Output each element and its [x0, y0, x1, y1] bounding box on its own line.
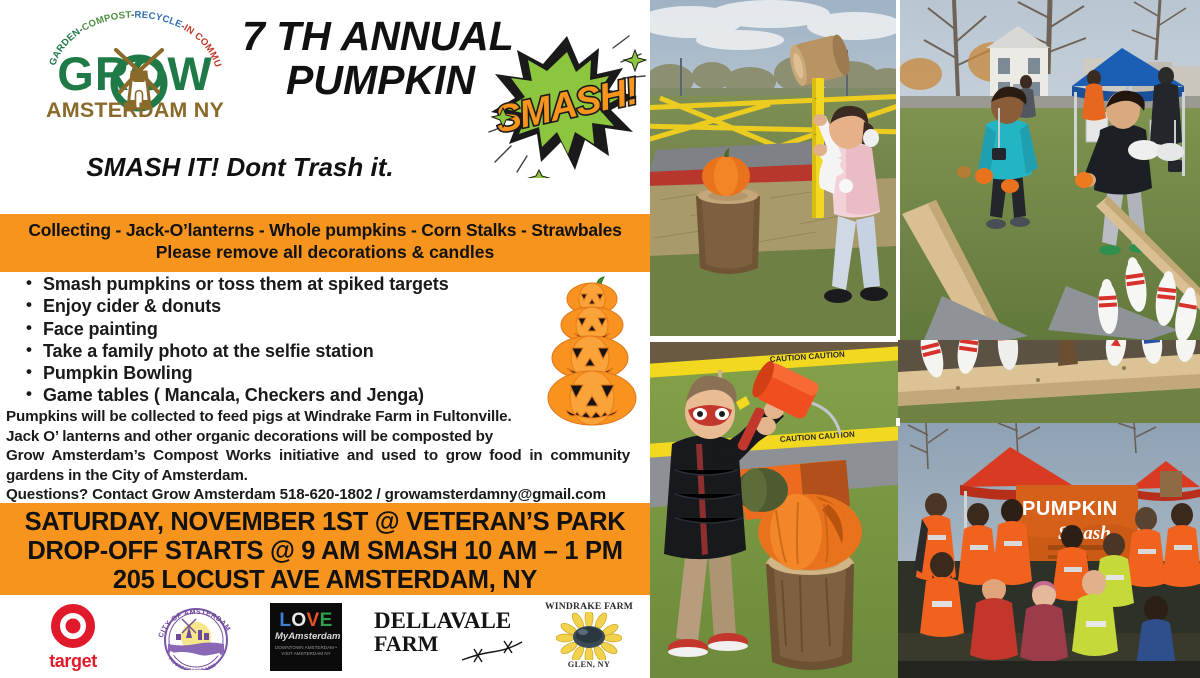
collecting-banner: Collecting - Jack-O’lanterns - Whole pum… — [0, 214, 650, 272]
collecting-line-1: Collecting - Jack-O’lanterns - Whole pum… — [4, 220, 646, 242]
sunflower-icon — [556, 612, 622, 660]
svg-text:⌁: ⌁ — [814, 96, 817, 102]
logo-city-label: AMSTERDAM NY — [40, 100, 230, 122]
collage-gutter-vertical — [896, 0, 900, 340]
grow-amsterdam-logo: GARDEN-COMPOST-RECYCLE-IN COMMUNITY GROW — [40, 8, 230, 148]
windrake-name: WINDRAKE FARM — [530, 601, 648, 612]
sponsor-logo-strip: target — [0, 596, 650, 678]
photo-kids-pumpkin-bowling — [898, 0, 1200, 340]
sponsor-logo-windrake-farm: WINDRAKE FARM — [524, 600, 650, 674]
smash-burst-icon: SMASH! — [487, 30, 647, 178]
event-line-3: 205 LOCUST AVE AMSTERDAM, NY — [0, 566, 650, 595]
list-item: Smash pumpkins or toss them at spiked ta… — [26, 273, 536, 295]
photo-girl-smashing-pumpkin-with-mallet: ⌁⌁⌁ — [650, 0, 898, 340]
love-tagline: DOWNTOWN AMSTERDAM • VISIT AMSTERDAM NY — [275, 645, 337, 657]
event-line-2: DROP-OFF STARTS @ 9 AM SMASH 10 AM – 1 P… — [0, 537, 650, 566]
target-bullseye-icon — [51, 604, 95, 648]
collage-gutter-corner — [896, 418, 900, 426]
event-line-1: SATURDAY, NOVEMBER 1ST @ VETERAN’S PARK — [0, 508, 650, 537]
list-item: Pumpkin Bowling — [26, 362, 536, 384]
info-line-3: Grow Amsterdam’s Compost Works initiativ… — [6, 446, 630, 485]
photo-boy-with-orange-mallet: CAUTION CAUTION CAUTION CAUTION — [650, 340, 898, 678]
sponsor-logo-love-my-amsterdam: LOVE MyAmsterdam DOWNTOWN AMSTERDAM • VI… — [256, 600, 368, 674]
photo-volunteer-group-pumpkin-smash-banner: PUMPKIN Smash — [898, 423, 1200, 678]
info-line-4: Questions? Contact Grow Amsterdam 518-62… — [6, 485, 636, 505]
windrake-location: GLEN, NY — [530, 660, 648, 670]
dellavale-line-1: DELLAVALE — [374, 610, 524, 632]
barbed-wire-icon — [460, 640, 524, 666]
info-paragraph: Pumpkins will be collected to feed pigs … — [6, 407, 636, 505]
list-item: Enjoy cider & donuts — [26, 295, 536, 317]
target-wordmark: target — [30, 651, 116, 672]
city-of-amsterdam-seal-icon: CITY OF AMSTERDAM INCORPORATED 1885 — [150, 604, 242, 670]
pumpkin-smash-flyer: GARDEN-COMPOST-RECYCLE-IN COMMUNITY GROW — [0, 0, 1200, 678]
info-line-2: Jack O’ lanterns and other organic decor… — [6, 427, 636, 447]
list-item: Game tables ( Mancala, Checkers and Jeng… — [26, 384, 536, 406]
info-line-1: Pumpkins will be collected to feed pigs … — [6, 407, 636, 427]
collage-gutter-horizontal — [650, 336, 898, 342]
event-details-banner: SATURDAY, NOVEMBER 1ST @ VETERAN’S PARK … — [0, 503, 650, 595]
collecting-line-2: Please remove all decorations & candles — [4, 242, 646, 264]
list-item: Face painting — [26, 318, 536, 340]
activities-list: Smash pumpkins or toss them at spiked ta… — [26, 273, 536, 407]
banner-pumpkin-text: PUMPKIN — [1022, 498, 1118, 520]
love-script-text: MyAmsterdam — [275, 632, 337, 642]
sponsor-logo-city-of-amsterdam: CITY OF AMSTERDAM INCORPORATED 1885 — [136, 600, 256, 674]
sponsor-logo-target: target — [0, 600, 136, 674]
sponsor-logo-dellavale-farm: DELLAVALE FARM — [368, 600, 524, 674]
flyer-header: GARDEN-COMPOST-RECYCLE-IN COMMUNITY GROW — [0, 0, 650, 150]
flyer-left-column: GARDEN-COMPOST-RECYCLE-IN COMMUNITY GROW — [0, 0, 650, 678]
svg-text:⌁: ⌁ — [814, 132, 817, 138]
list-item: Take a family photo at the selfie statio… — [26, 340, 536, 362]
photo-collage: ⌁⌁⌁ — [650, 0, 1200, 678]
flyer-subtitle: SMASH IT! Dont Trash it. — [0, 152, 480, 183]
love-wordmark: LOVE — [275, 612, 337, 630]
